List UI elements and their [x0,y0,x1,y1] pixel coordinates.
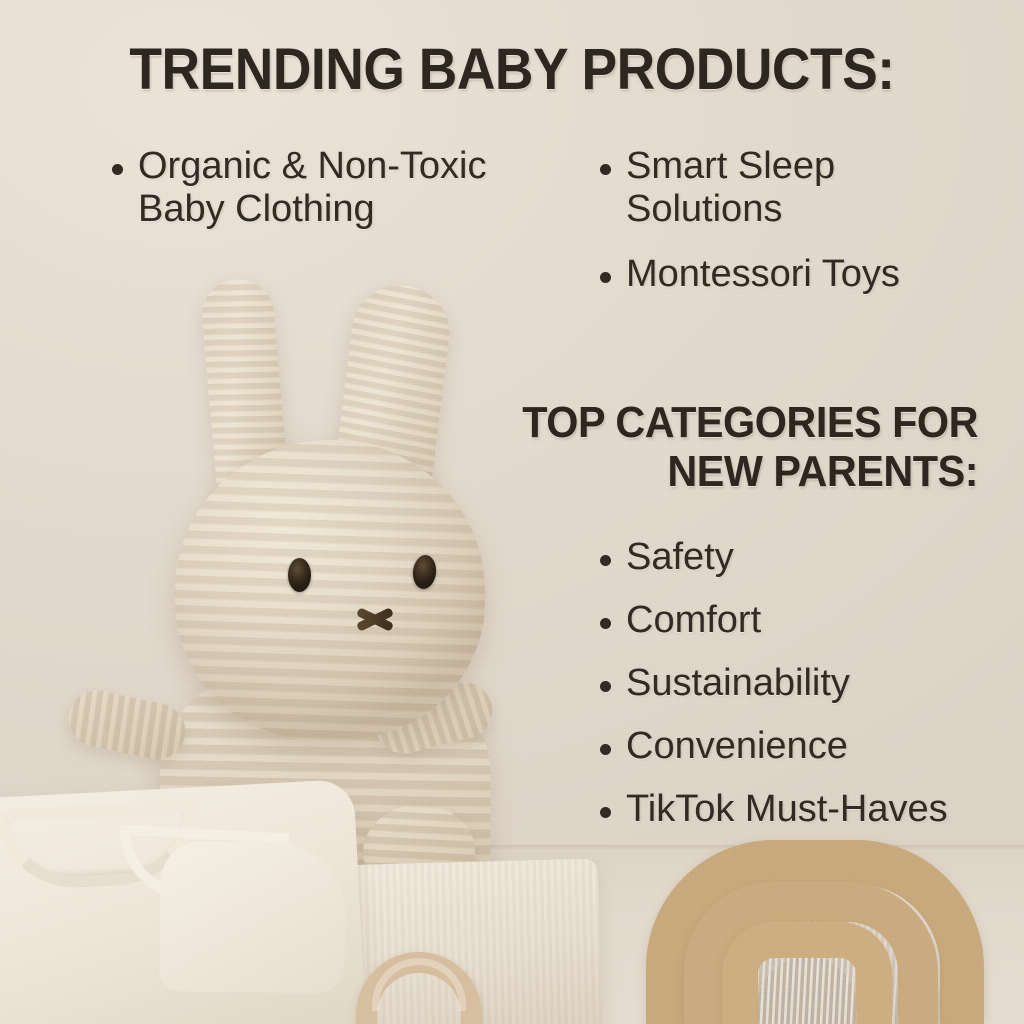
poster-canvas: TRENDING BABY PRODUCTS: Organic & Non-To… [0,0,1024,1024]
text-overlay: TRENDING BABY PRODUCTS: Organic & Non-To… [0,0,1024,1024]
list-item: Convenience [596,725,1016,768]
list-item: TikTok Must-Haves [596,788,1016,831]
list-item: Safety [596,536,1016,579]
list-item: Sustainability [596,662,1016,705]
trending-list-left: Organic & Non-Toxic Baby Clothing [108,145,573,231]
list-item: Montessori Toys [596,253,996,296]
list-item: Organic & Non-Toxic Baby Clothing [108,145,573,231]
page-title: TRENDING BABY PRODUCTS: [41,36,983,103]
trending-list-right: Smart Sleep Solutions Montessori Toys [596,145,996,296]
section-subheading: TOP CATEGORIES FOR NEW PARENTS: [489,398,978,497]
list-item: Comfort [596,599,1016,642]
categories-list: Safety Comfort Sustainability Convenienc… [596,536,1016,831]
list-item: Smart Sleep Solutions [596,145,996,231]
